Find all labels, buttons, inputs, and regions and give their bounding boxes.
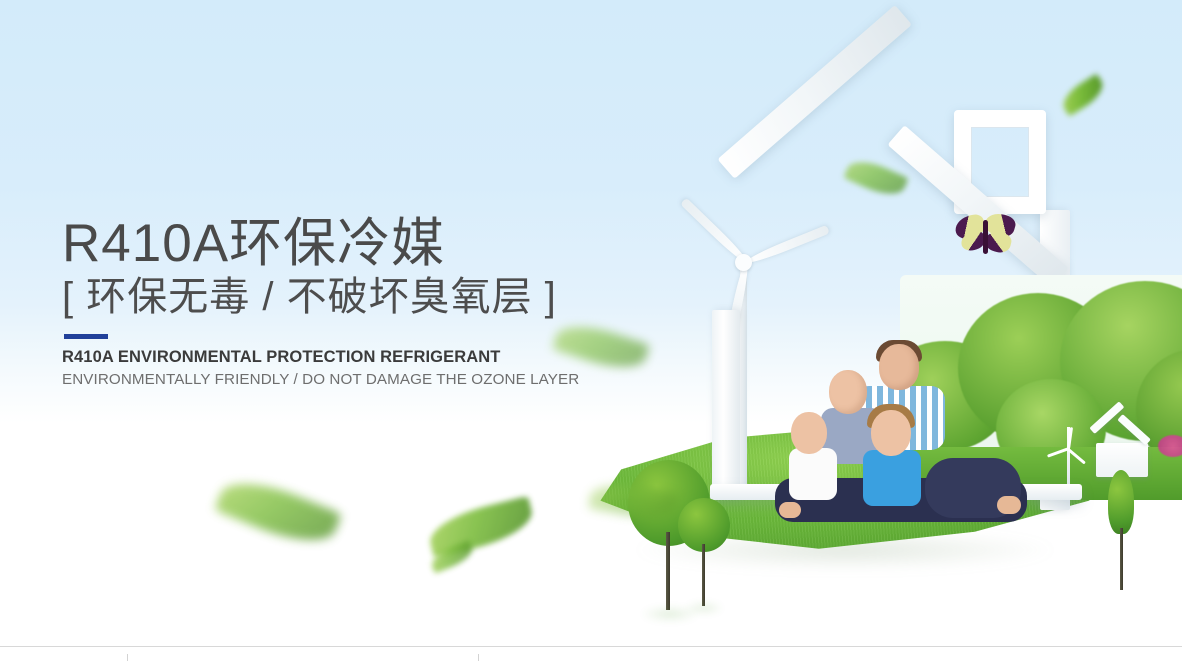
family-of-four — [775, 338, 1027, 523]
bare-foot — [779, 502, 801, 518]
butterfly-body — [983, 220, 988, 254]
girl-head — [791, 412, 827, 454]
boy-torso — [863, 450, 921, 506]
banner-subtitle: [ 环保无毒 / 不破坏臭氧层 ] — [62, 275, 622, 320]
mini-turbine-blade — [1047, 448, 1069, 458]
banner-text-block: R410A环保冷媒 [ 环保无毒 / 不破坏臭氧层 ] R410A ENVIRO… — [62, 216, 622, 389]
foreground-tree — [678, 498, 738, 618]
page-title: R410A环保冷媒 — [62, 216, 622, 271]
english-subheadline: ENVIRONMENTALLY FRIENDLY / DO NOT DAMAGE… — [62, 370, 622, 390]
mini-wind-turbine — [1048, 417, 1088, 487]
english-headline: R410A ENVIRONMENTAL PROTECTION REFRIGERA… — [62, 347, 622, 368]
house-roof-left — [717, 5, 911, 179]
bottom-divider — [0, 646, 1182, 647]
tree-trunk — [1120, 528, 1123, 590]
butterfly — [955, 212, 1021, 262]
girl-torso — [789, 448, 837, 500]
flower-cluster — [1158, 435, 1182, 457]
tree-crown — [1108, 470, 1134, 534]
tree-reflection — [684, 602, 724, 614]
father-head — [879, 344, 919, 390]
mini-turbine-blade — [1067, 448, 1085, 464]
column-separator-tick — [127, 654, 128, 661]
mini-house-icon — [1090, 405, 1154, 479]
accent-divider — [64, 334, 108, 339]
bare-foot — [997, 496, 1021, 514]
boy-head — [871, 410, 911, 456]
eco-scene-illustration — [560, 60, 1182, 640]
tree-trunk — [666, 532, 670, 610]
tree-trunk — [702, 544, 705, 606]
mini-house-roof-right — [1117, 414, 1151, 445]
floating-leaf — [425, 496, 537, 559]
floating-leaf — [214, 469, 342, 555]
r410a-refrigerant-banner: R410A环保冷媒 [ 环保无毒 / 不破坏臭氧层 ] R410A ENVIRO… — [0, 0, 1182, 661]
cypress-tree — [1100, 470, 1142, 590]
column-separator-tick — [478, 654, 479, 661]
mother-head — [829, 370, 867, 414]
